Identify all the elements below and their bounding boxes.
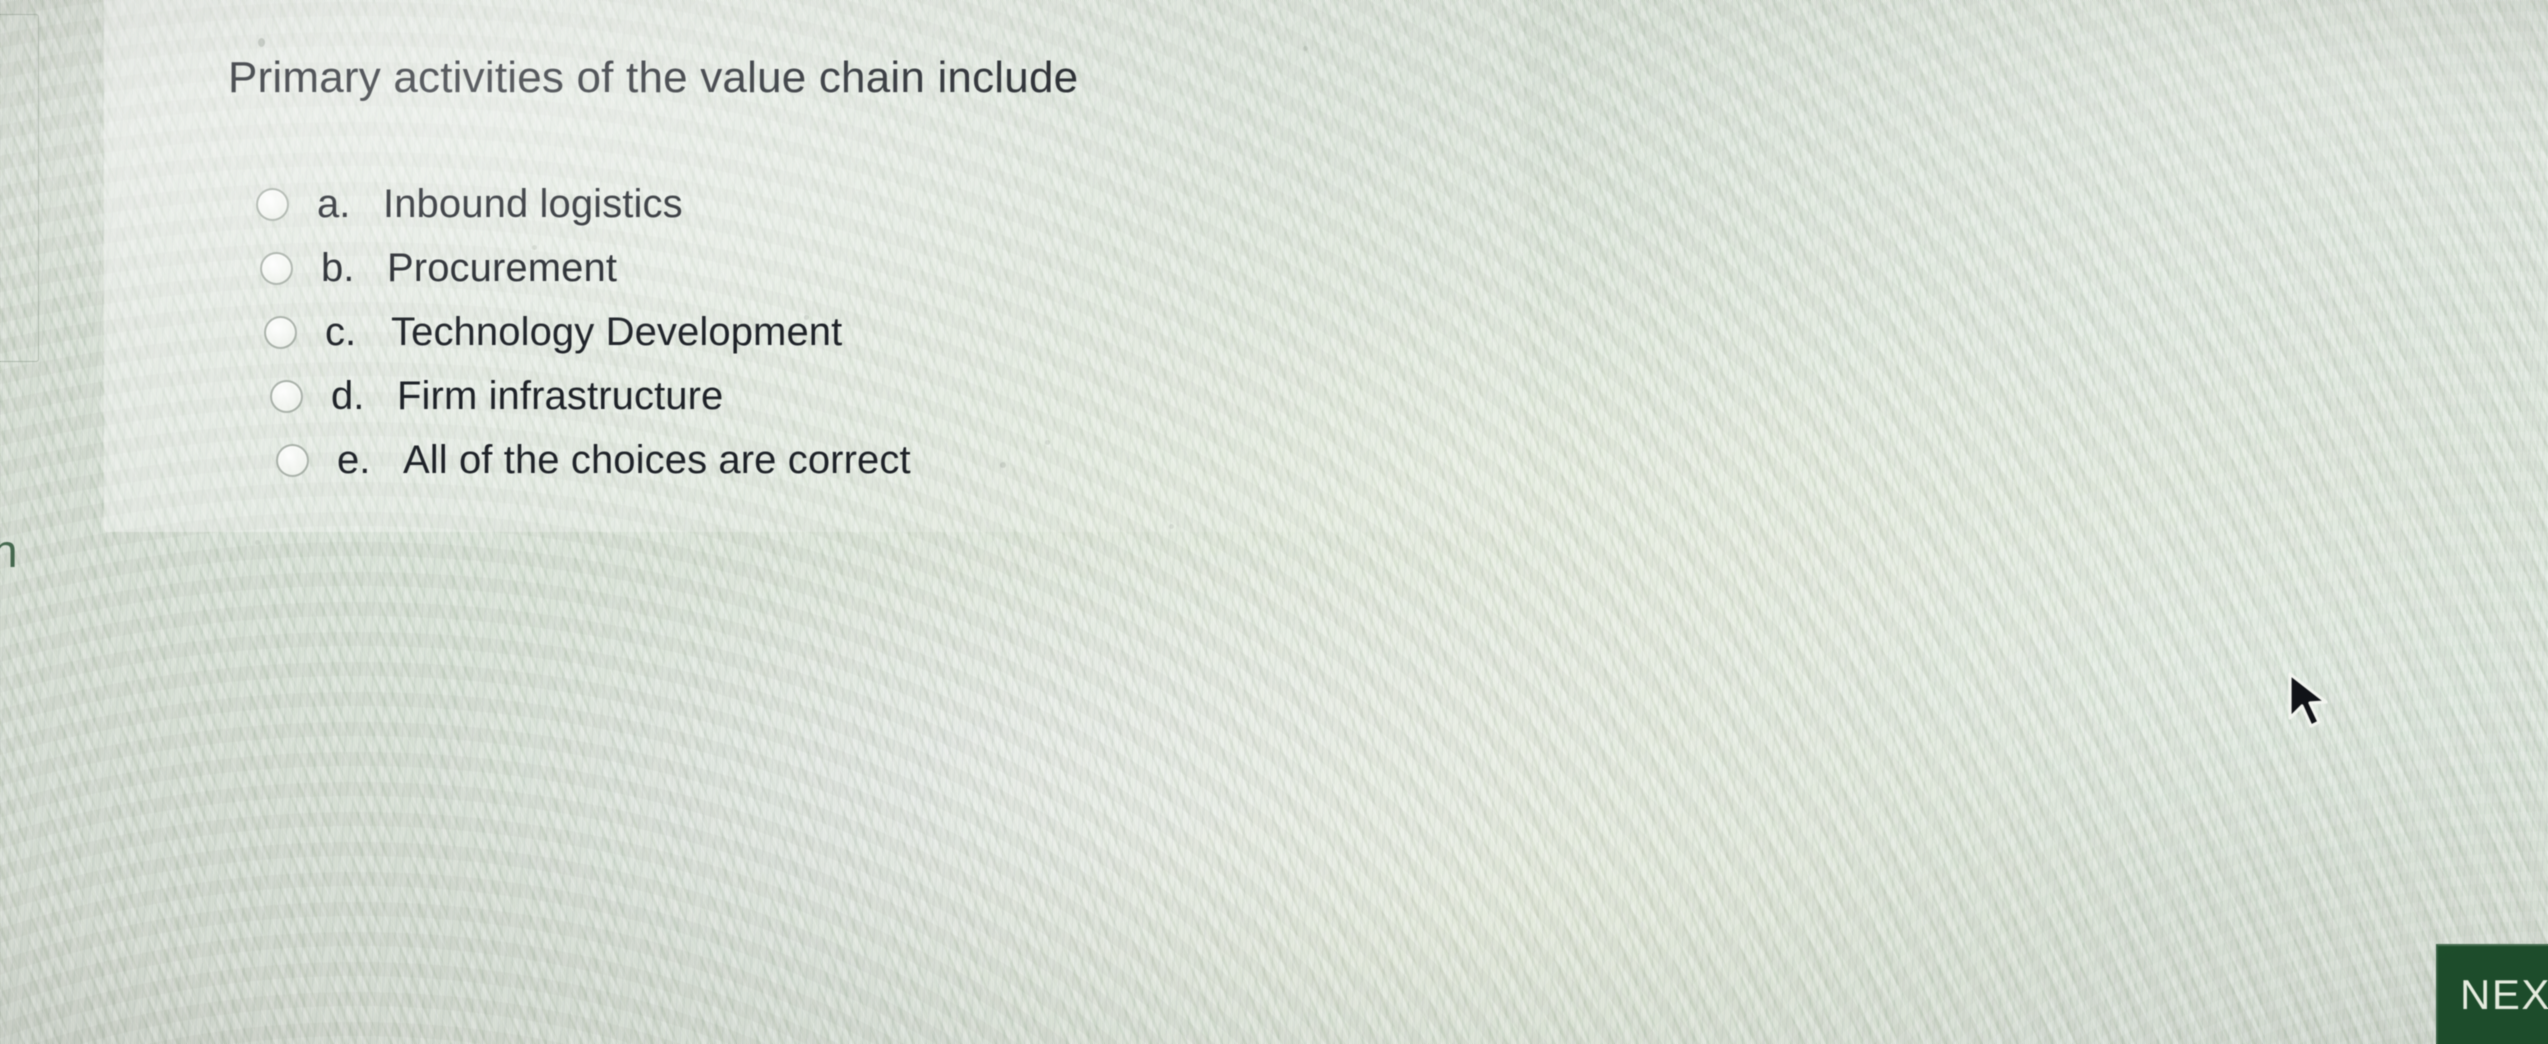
clipped-side-panel[interactable] [0,14,39,362]
option-label[interactable]: All of the choices are correct [403,438,911,483]
dust-speck [1303,46,1308,51]
option-letter: c. [325,310,391,355]
next-button[interactable]: NEXT [2436,944,2548,1044]
clipped-sidebar-text: n [0,524,18,578]
dust-speck [1169,524,1174,529]
dust-speck [532,245,537,250]
option-letter: b. [321,246,387,291]
dust-speck [255,540,260,545]
option-letter: a. [317,182,383,227]
dust-speck [1000,462,1006,468]
answer-options-list: a. Inbound logistics b. Procurement c. T… [254,172,1514,492]
mouse-arrow-cursor-icon [2286,672,2330,732]
answer-option-b[interactable]: b. Procurement [260,236,1514,300]
dust-speck [258,38,265,47]
option-label[interactable]: Firm infrastructure [397,374,723,419]
radio-button-unchecked-icon[interactable] [264,316,297,349]
question-stem: Primary activities of the value chain in… [228,52,1528,104]
option-letter: d. [331,374,397,419]
radio-button-unchecked-icon[interactable] [276,444,309,477]
answer-option-d[interactable]: d. Firm infrastructure [270,364,1514,428]
radio-button-unchecked-icon[interactable] [256,188,289,221]
option-label[interactable]: Inbound logistics [383,182,683,227]
next-button-label: NEXT [2460,971,2548,1019]
dust-speck [1045,440,1050,445]
radio-button-unchecked-icon[interactable] [270,380,303,413]
answer-option-c[interactable]: c. Technology Development [264,300,1514,364]
option-label[interactable]: Procurement [387,246,617,291]
dust-speck [804,315,809,320]
answer-option-e[interactable]: e. All of the choices are correct [276,428,1514,492]
option-letter: e. [337,438,403,483]
option-label[interactable]: Technology Development [391,310,842,355]
radio-button-unchecked-icon[interactable] [260,252,293,285]
photographed-monitor-screen: n Primary activities of the value chain … [0,0,2548,1044]
answer-option-a[interactable]: a. Inbound logistics [256,172,1514,236]
question-card: Primary activities of the value chain in… [104,0,1524,532]
